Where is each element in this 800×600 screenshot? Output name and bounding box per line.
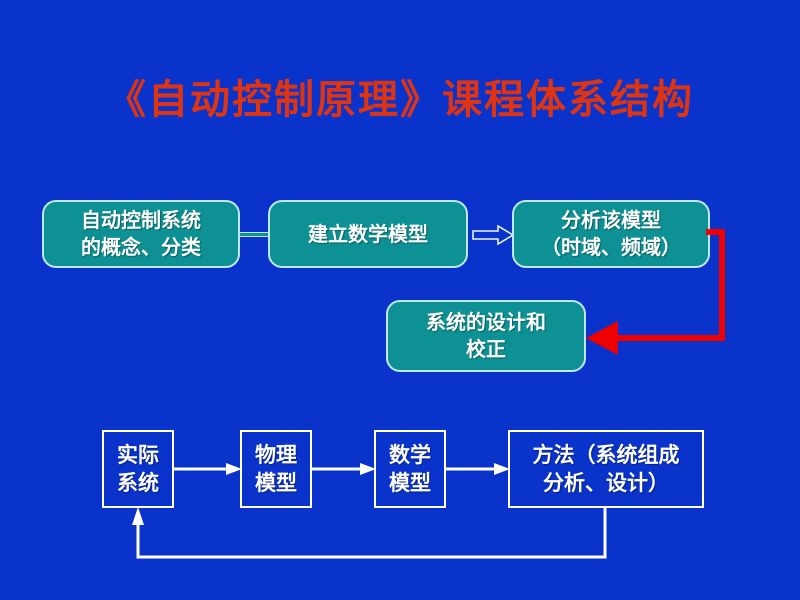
- wire-box-physical-model[interactable]: 物理 模型: [240, 430, 312, 508]
- flow-box-model-label: 建立数学模型: [302, 221, 434, 248]
- wire-box-method[interactable]: 方法（系统组成 分析、设计）: [508, 430, 704, 508]
- wire-box-method-label: 方法（系统组成 分析、设计）: [529, 441, 684, 497]
- slide-canvas: 《自动控制原理》课程体系结构 自动控制系统 的概念、分类 建立数学模型 分析该模…: [0, 0, 800, 600]
- red-elbow-arrow-icon: [580, 226, 740, 358]
- arrow-right-icon: [472, 224, 514, 246]
- flow-box-concept[interactable]: 自动控制系统 的概念、分类: [42, 200, 240, 268]
- arrow-right-icon: [312, 462, 376, 476]
- flow-box-concept-label: 自动控制系统 的概念、分类: [75, 207, 207, 261]
- flow-box-model[interactable]: 建立数学模型: [268, 200, 468, 268]
- flow-box-design-label: 系统的设计和 校正: [420, 309, 552, 363]
- wire-box-math-model-label: 数学 模型: [385, 441, 435, 497]
- feedback-arrow-icon: [130, 505, 610, 573]
- wire-box-real-system[interactable]: 实际 系统: [102, 430, 174, 508]
- page-title: 《自动控制原理》课程体系结构: [0, 76, 800, 124]
- horizontal-bar-connector: [240, 232, 268, 237]
- arrow-right-icon: [446, 462, 510, 476]
- wire-box-math-model[interactable]: 数学 模型: [374, 430, 446, 508]
- wire-box-real-system-label: 实际 系统: [113, 441, 163, 497]
- flow-box-design[interactable]: 系统的设计和 校正: [386, 300, 586, 372]
- wire-box-physical-model-label: 物理 模型: [251, 441, 301, 497]
- arrow-right-icon: [174, 462, 242, 476]
